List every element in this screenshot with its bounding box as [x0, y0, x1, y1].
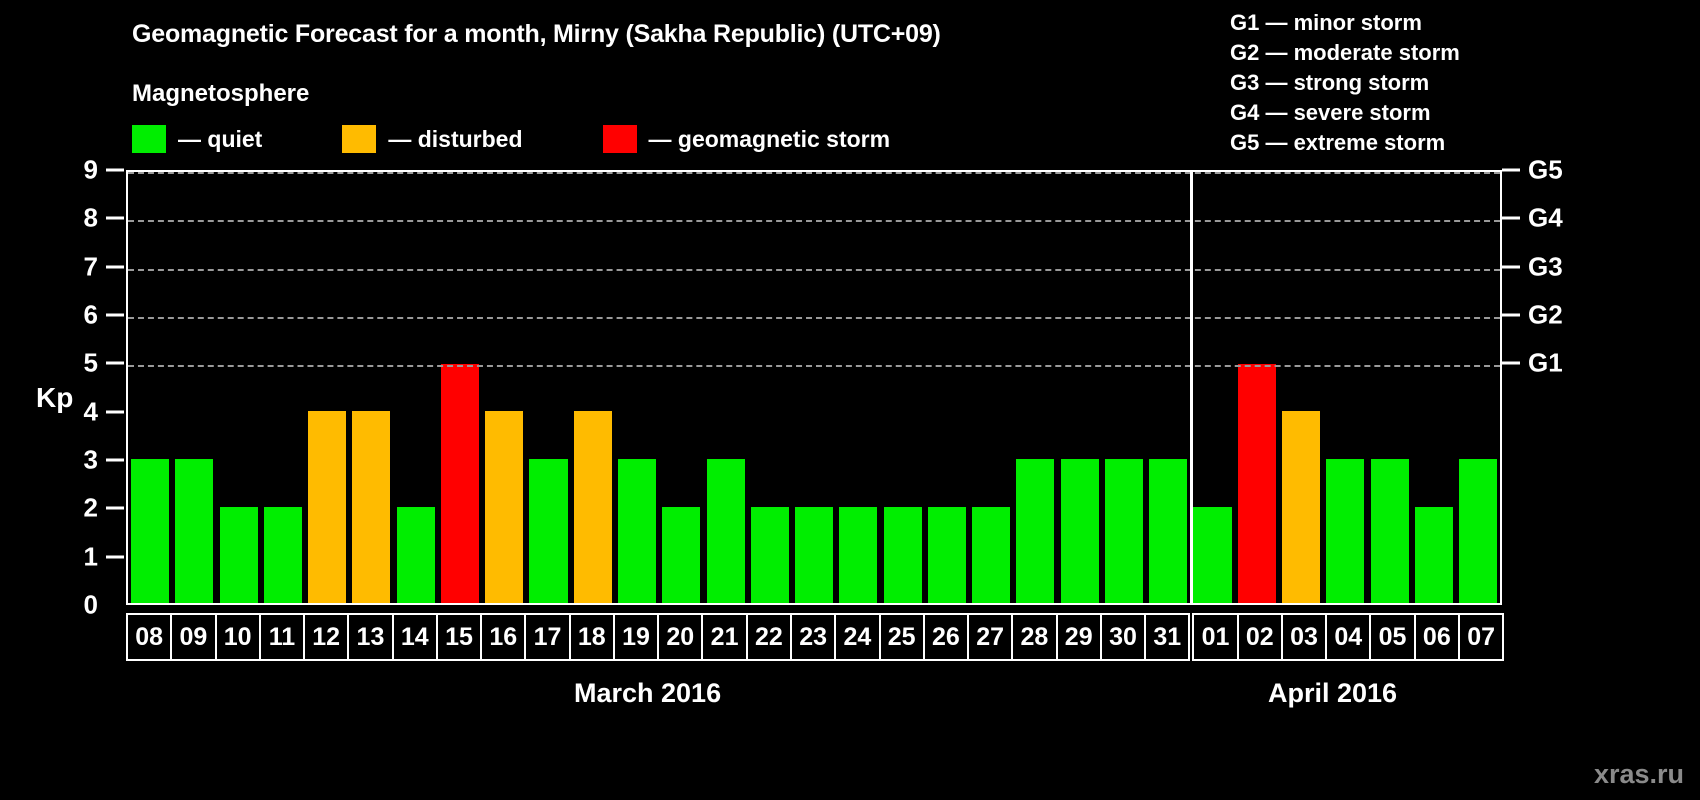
legend-item-geomagneticstorm: — geomagnetic storm	[603, 125, 891, 153]
chart-root: Geomagnetic Forecast for a month, Mirny …	[0, 0, 1700, 800]
g-tick-mark-G3	[1502, 265, 1520, 268]
bar-cell	[1367, 172, 1411, 603]
g-tick-mark-G1	[1502, 362, 1520, 365]
red-swatch	[603, 125, 637, 153]
y-tick-label-5: 5	[84, 348, 98, 379]
magnetosphere-heading: Magnetosphere	[132, 80, 309, 108]
y-tick-label-7: 7	[84, 251, 98, 282]
y-tick-mark-1	[106, 555, 124, 558]
page-title: Geomagnetic Forecast for a month, Mirny …	[132, 20, 941, 49]
date-cell-30[interactable]: 30	[1100, 613, 1146, 661]
bar-cell	[1058, 172, 1102, 603]
date-cell-19[interactable]: 19	[613, 613, 659, 661]
bar-cell	[526, 172, 570, 603]
bar-day-09	[175, 459, 213, 603]
bar-cell	[748, 172, 792, 603]
bar-cell	[703, 172, 747, 603]
bar-cell	[792, 172, 836, 603]
bar-day-14	[397, 507, 435, 603]
date-cell-29[interactable]: 29	[1056, 613, 1102, 661]
bar-day-06	[1415, 507, 1453, 603]
y-axis-title: Kp	[36, 382, 73, 414]
bar-cell	[836, 172, 880, 603]
bar-day-16	[485, 411, 523, 603]
bar-day-08	[131, 459, 169, 603]
date-cell-22[interactable]: 22	[746, 613, 792, 661]
legend-item-disturbed: — disturbed	[342, 125, 522, 153]
g-tick-mark-G2	[1502, 314, 1520, 317]
gridline-kp-9	[128, 172, 1500, 174]
bar-day-30	[1105, 459, 1143, 603]
date-cell-20[interactable]: 20	[657, 613, 703, 661]
g-tick-mark-G4	[1502, 217, 1520, 220]
date-cell-06[interactable]: 06	[1414, 613, 1460, 661]
bar-cell	[1013, 172, 1057, 603]
y-tick-mark-5	[106, 362, 124, 365]
bar-cell	[881, 172, 925, 603]
legend-label: — geomagnetic storm	[649, 126, 891, 153]
y-tick-label-0: 0	[84, 590, 98, 621]
g-tick-label-G3: G3	[1528, 251, 1563, 282]
bar-day-07	[1459, 459, 1497, 603]
date-cell-16[interactable]: 16	[480, 613, 526, 661]
g-scale-row-2: G2 — moderate storm	[1230, 38, 1460, 68]
bar-cell	[172, 172, 216, 603]
y-tick-mark-6	[106, 314, 124, 317]
bar-cell	[925, 172, 969, 603]
right-axis-g-scale: G1G2G3G4G5	[1502, 170, 1700, 605]
date-cell-26[interactable]: 26	[923, 613, 969, 661]
bar-day-29	[1061, 459, 1099, 603]
date-cell-12[interactable]: 12	[303, 613, 349, 661]
bar-cell	[1102, 172, 1146, 603]
g-tick-label-G2: G2	[1528, 300, 1563, 331]
y-tick-label-3: 3	[84, 445, 98, 476]
y-tick-mark-9	[106, 169, 124, 172]
bar-series	[128, 172, 1500, 603]
g-tick-label-G5: G5	[1528, 155, 1563, 186]
bar-cell	[128, 172, 172, 603]
bar-day-17	[529, 459, 567, 603]
bar-cell	[1235, 172, 1279, 603]
y-tick-mark-2	[106, 507, 124, 510]
bar-day-22	[751, 507, 789, 603]
orange-swatch	[342, 125, 376, 153]
date-cell-31[interactable]: 31	[1144, 613, 1190, 661]
bar-day-18	[574, 411, 612, 603]
bar-day-24	[839, 507, 877, 603]
bar-day-12	[308, 411, 346, 603]
bar-day-02	[1238, 364, 1276, 603]
bar-cell	[261, 172, 305, 603]
date-axis: 0809101112131415161718192021222324252627…	[126, 613, 1502, 661]
bar-cell	[1323, 172, 1367, 603]
bar-cell	[394, 172, 438, 603]
bar-day-28	[1016, 459, 1054, 603]
legend-label: — disturbed	[388, 126, 522, 153]
date-cell-07[interactable]: 07	[1458, 613, 1504, 661]
bar-cell	[438, 172, 482, 603]
date-cell-23[interactable]: 23	[790, 613, 836, 661]
date-cell-18[interactable]: 18	[569, 613, 615, 661]
legend-label: — quiet	[178, 126, 262, 153]
date-cell-27[interactable]: 27	[967, 613, 1013, 661]
y-tick-mark-7	[106, 265, 124, 268]
plot-area	[126, 170, 1502, 605]
date-cell-25[interactable]: 25	[879, 613, 925, 661]
bar-day-25	[884, 507, 922, 603]
gridline-kp-5	[128, 365, 1500, 367]
date-cell-01[interactable]: 01	[1192, 613, 1238, 661]
date-cell-28[interactable]: 28	[1011, 613, 1057, 661]
g-tick-mark-G5	[1502, 169, 1520, 172]
y-tick-label-8: 8	[84, 203, 98, 234]
g-scale-row-4: G4 — severe storm	[1230, 98, 1460, 128]
date-cell-21[interactable]: 21	[701, 613, 747, 661]
bar-day-04	[1326, 459, 1364, 603]
bar-day-01	[1193, 507, 1231, 603]
bar-cell	[1412, 172, 1456, 603]
y-tick-label-1: 1	[84, 541, 98, 572]
legend-item-quiet: — quiet	[132, 125, 262, 153]
date-cell-17[interactable]: 17	[524, 613, 570, 661]
bar-day-21	[707, 459, 745, 603]
bar-cell	[1279, 172, 1323, 603]
y-tick-mark-4	[106, 410, 124, 413]
y-tick-label-2: 2	[84, 493, 98, 524]
date-cell-15[interactable]: 15	[436, 613, 482, 661]
date-cell-10[interactable]: 10	[215, 613, 261, 661]
y-tick-label-6: 6	[84, 300, 98, 331]
gridline-kp-6	[128, 317, 1500, 319]
bar-cell	[969, 172, 1013, 603]
g-tick-label-G1: G1	[1528, 348, 1563, 379]
bar-day-23	[795, 507, 833, 603]
bar-cell	[482, 172, 526, 603]
date-cell-11[interactable]: 11	[259, 613, 305, 661]
date-cell-03[interactable]: 03	[1281, 613, 1327, 661]
bar-cell	[1190, 172, 1234, 603]
bar-day-20	[662, 507, 700, 603]
y-tick-mark-3	[106, 459, 124, 462]
bar-day-05	[1371, 459, 1409, 603]
bar-day-13	[352, 411, 390, 603]
bar-cell	[659, 172, 703, 603]
bar-cell	[349, 172, 393, 603]
bar-day-15	[441, 364, 479, 603]
date-cell-24[interactable]: 24	[834, 613, 880, 661]
bar-day-27	[972, 507, 1010, 603]
gridline-kp-7	[128, 269, 1500, 271]
bar-cell	[571, 172, 615, 603]
bar-day-31	[1149, 459, 1187, 603]
y-tick-mark-8	[106, 217, 124, 220]
bar-day-19	[618, 459, 656, 603]
date-cell-13[interactable]: 13	[347, 613, 393, 661]
g-scale-row-1: G1 — minor storm	[1230, 8, 1460, 38]
bar-cell	[217, 172, 261, 603]
date-cell-14[interactable]: 14	[392, 613, 438, 661]
date-cell-02[interactable]: 02	[1237, 613, 1283, 661]
g-scale-row-3: G3 — strong storm	[1230, 68, 1460, 98]
bar-day-03	[1282, 411, 1320, 603]
bar-cell	[1456, 172, 1500, 603]
g-tick-label-G4: G4	[1528, 203, 1563, 234]
watermark: xras.ru	[1594, 759, 1684, 790]
month-label-april: April 2016	[1268, 678, 1397, 709]
y-tick-label-9: 9	[84, 155, 98, 186]
gridline-kp-8	[128, 220, 1500, 222]
date-cell-04[interactable]: 04	[1325, 613, 1371, 661]
bar-day-10	[220, 507, 258, 603]
g-scale-row-5: G5 — extreme storm	[1230, 128, 1460, 158]
y-tick-label-4: 4	[84, 396, 98, 427]
g-scale-legend: G1 — minor stormG2 — moderate stormG3 — …	[1230, 8, 1460, 158]
bar-cell	[1146, 172, 1190, 603]
bar-cell	[615, 172, 659, 603]
bar-cell	[305, 172, 349, 603]
date-cell-05[interactable]: 05	[1369, 613, 1415, 661]
green-swatch	[132, 125, 166, 153]
bar-day-11	[264, 507, 302, 603]
date-cell-09[interactable]: 09	[170, 613, 216, 661]
month-label-march: March 2016	[574, 678, 721, 709]
month-divider	[1190, 170, 1193, 605]
bar-day-26	[928, 507, 966, 603]
date-cell-08[interactable]: 08	[126, 613, 172, 661]
magnetosphere-legend: — quiet— disturbed— geomagnetic storm	[132, 125, 890, 153]
